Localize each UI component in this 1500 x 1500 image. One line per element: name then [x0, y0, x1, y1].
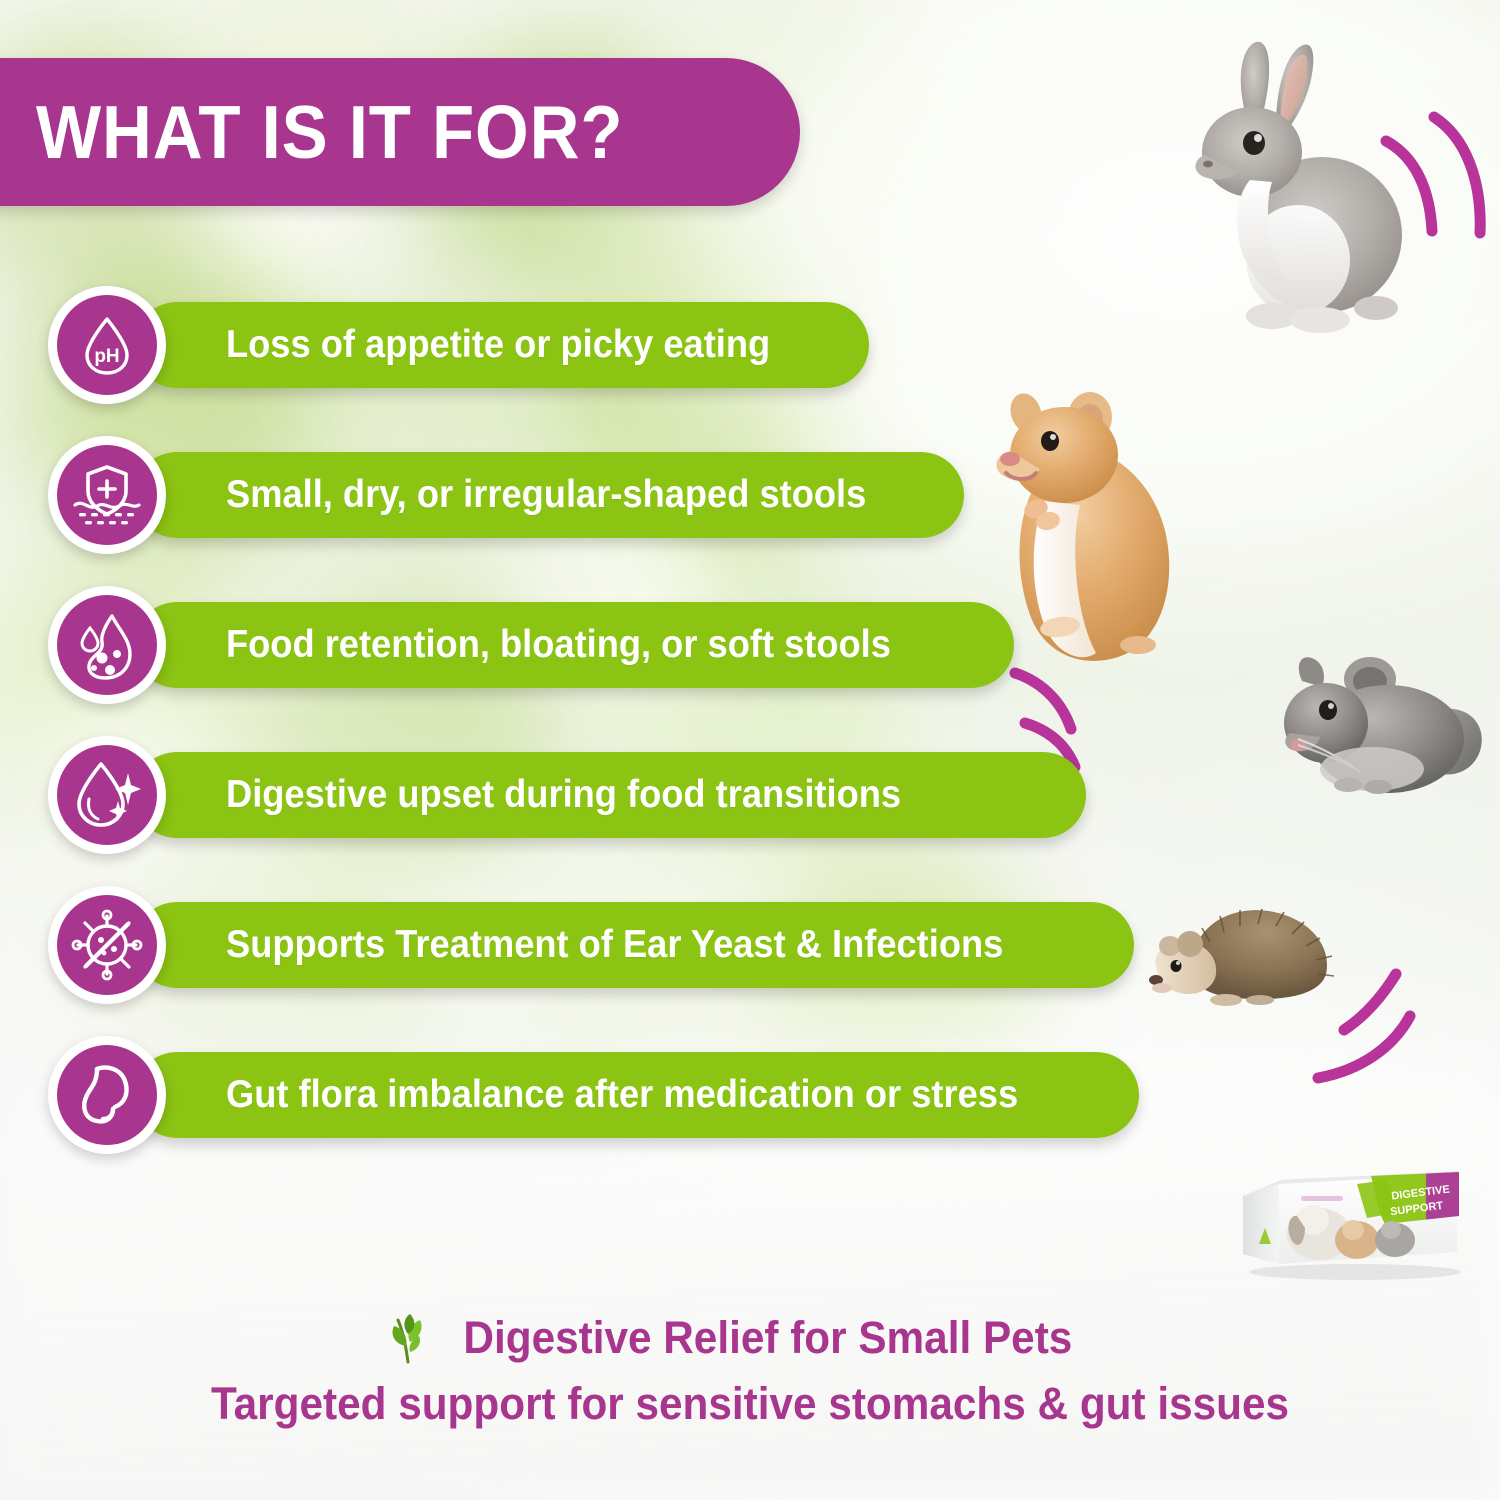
- feature-label: Loss of appetite or picky eating: [226, 323, 770, 367]
- feature-label: Small, dry, or irregular-shaped stools: [226, 473, 866, 517]
- footer-tagline: Digestive Relief for Small Pets Targeted…: [0, 1312, 1500, 1430]
- shield-plus-waves-icon: [48, 436, 166, 554]
- feature-bar: Supports Treatment of Ear Yeast & Infect…: [134, 902, 1134, 988]
- feature-row[interactable]: Loss of appetite or picky eating pH: [48, 286, 1148, 436]
- feature-row[interactable]: Digestive upset during food transitions: [48, 736, 1148, 886]
- footer-line-1: Digestive Relief for Small Pets: [464, 1312, 1073, 1364]
- rabbit-sound-arcs-icon: [1372, 95, 1492, 255]
- droplet-sparkle-icon: [48, 736, 166, 854]
- footer-line-2: Targeted support for sensitive stomachs …: [45, 1378, 1455, 1430]
- feature-bar: Food retention, bloating, or soft stools: [134, 602, 1014, 688]
- feature-row[interactable]: Gut flora imbalance after medication or …: [48, 1036, 1148, 1186]
- page-title: WHAT IS IT FOR?: [36, 89, 623, 175]
- feature-label: Supports Treatment of Ear Yeast & Infect…: [226, 923, 1003, 967]
- stomach-icon: [48, 1036, 166, 1154]
- product-box-image: DIGESTIVE SUPPORT: [1235, 1160, 1470, 1280]
- feature-bar: Digestive upset during food transitions: [134, 752, 1086, 838]
- feature-label: Gut flora imbalance after medication or …: [226, 1073, 1018, 1117]
- ph-droplet-icon: pH: [48, 286, 166, 404]
- feature-row[interactable]: Small, dry, or irregular-shaped stools: [48, 436, 1148, 586]
- hedgehog-sound-arcs-icon: [1280, 960, 1420, 1100]
- leaf-icon: [388, 1312, 430, 1364]
- feature-label: Digestive upset during food transitions: [226, 773, 901, 817]
- chinchilla-photo: [1272, 645, 1494, 810]
- product-infographic-poster: DIGESTIVE SUPPORT WHAT IS IT FOR? Loss o…: [0, 0, 1500, 1500]
- germ-blocked-icon: [48, 886, 166, 1004]
- header-banner: WHAT IS IT FOR?: [0, 58, 800, 206]
- feature-bar: Gut flora imbalance after medication or …: [134, 1052, 1139, 1138]
- feature-label: Food retention, bloating, or soft stools: [226, 623, 891, 667]
- feature-list: Loss of appetite or picky eating pH Smal…: [48, 286, 1148, 1186]
- feature-bar: Loss of appetite or picky eating: [134, 302, 869, 388]
- droplet-bubbles-icon: [48, 586, 166, 704]
- feature-bar: Small, dry, or irregular-shaped stools: [134, 452, 964, 538]
- feature-row[interactable]: Supports Treatment of Ear Yeast & Infect…: [48, 886, 1148, 1036]
- svg-text:pH: pH: [94, 346, 119, 367]
- feature-row[interactable]: Food retention, bloating, or soft stools: [48, 586, 1148, 736]
